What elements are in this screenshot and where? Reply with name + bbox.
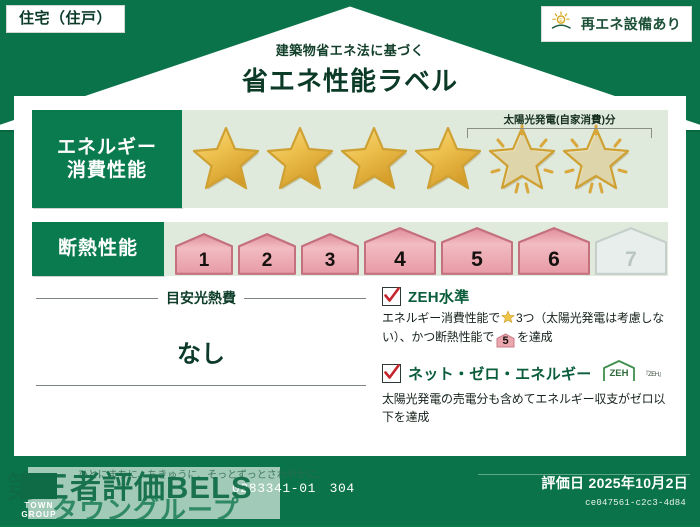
insulation-label-text: 断熱性能: [58, 237, 138, 260]
zeh-body-part3: を達成: [517, 330, 552, 344]
renewable-energy-badge: E 再エネ設備あり: [541, 6, 692, 42]
star-filled-icon: [264, 124, 336, 194]
renewable-badge-label: 再エネ設備あり: [581, 14, 681, 34]
insulation-row-value: 1234567: [164, 222, 668, 276]
utility-cost-bottom-rule: [36, 385, 366, 386]
claim-net-zero-energy: ネット・ゼロ・エネルギー ZEH 『ZEH』 太陽光発電の売電分も含めてエネルギ…: [382, 359, 674, 426]
solar-annotation-label: 太陽光発電(自家消費)分: [467, 112, 652, 127]
energy-label-line2: 消費性能: [67, 159, 147, 182]
insulation-grade-scale: 1234567: [174, 226, 668, 276]
insulation-grade-value: 6: [548, 248, 560, 272]
page-title: 省エネ性能ラベル: [0, 61, 700, 98]
energy-performance-row: エネルギー 消費性能 太陽光発電(自家消費)分: [32, 110, 668, 208]
svg-text:ZEH: ZEH: [609, 368, 628, 379]
footer-evaluation-date: 評価日 2025年10月2日: [541, 473, 688, 493]
claims-block: ZEH水準 エネルギー消費性能で3つ（太陽光発電は考慮しない）、かつ断熱性能で5…: [382, 286, 674, 437]
footer-bar: 0283341-01 304 評価日 2025年10月2日 ce047561-c…: [0, 461, 700, 525]
claim-zeh-level: ZEH水準 エネルギー消費性能で3つ（太陽光発電は考慮しない）、かつ断熱性能で5…: [382, 286, 674, 348]
insulation-grade-value: 4: [394, 248, 406, 272]
energy-row-value: 太陽光発電(自家消費)分: [182, 110, 668, 208]
rule-left: [36, 298, 158, 299]
zeh-logo-icon: ZEH: [602, 359, 636, 388]
insulation-grade-value: 7: [625, 248, 637, 272]
utility-cost-title: 目安光熱費: [166, 288, 236, 308]
footer-uuid: ce047561-c2c3-4d84: [585, 498, 686, 508]
insulation-grade-value: 2: [262, 250, 273, 272]
title-block: 建築物省エネ法に基づく 省エネ性能ラベル: [0, 40, 700, 98]
zeh-logo-trademark: 『ZEH』: [643, 369, 665, 378]
checkbox-zeh-level[interactable]: [382, 287, 401, 306]
mini-star-icon: [501, 310, 515, 329]
insulation-grade-badge: 1: [174, 232, 234, 276]
claim-net-zero-body: 太陽光発電の売電分も含めてエネルギー収支がゼロ以下を達成: [382, 391, 674, 426]
claim-zeh-level-body: エネルギー消費性能で3つ（太陽光発電は考慮しない）、かつ断熱性能で5を達成: [382, 310, 674, 348]
mini-grade-value: 5: [503, 335, 509, 347]
zeh-body-part1: エネルギー消費性能で: [382, 311, 500, 325]
star-filled-icon: [190, 124, 262, 194]
insulation-grade-value: 1: [199, 250, 210, 272]
utility-cost-value: なし: [36, 308, 366, 385]
insulation-grade-badge: 5: [440, 226, 514, 276]
mini-grade-badge: 5: [496, 333, 515, 348]
checkbox-net-zero[interactable]: [382, 364, 401, 383]
sun-icon: E: [550, 11, 574, 36]
title-subtitle: 建築物省エネ法に基づく: [0, 40, 700, 59]
solar-annotation: 太陽光発電(自家消費)分: [467, 112, 652, 138]
claim-net-zero-header: ネット・ゼロ・エネルギー ZEH 『ZEH』: [382, 359, 674, 388]
rule-right: [244, 298, 366, 299]
star-filled-icon: [338, 124, 410, 194]
insulation-grade-badge: 3: [300, 232, 360, 276]
energy-label-card: 住宅（住戸） E 再エネ設備あり 建築物省エネ法に基づく 省エネ性能ラベル: [0, 0, 700, 525]
insulation-grade-badge: 2: [237, 232, 297, 276]
solar-bracket: [467, 128, 652, 138]
utility-cost-block: 目安光熱費 なし: [36, 288, 366, 386]
insulation-grade-value: 3: [325, 250, 336, 272]
claim-zeh-level-header: ZEH水準: [382, 286, 674, 307]
claim-zeh-level-title: ZEH水準: [408, 286, 470, 307]
footer-document-id: 0283341-01 304: [232, 477, 355, 496]
category-chip: 住宅（住戸）: [6, 5, 125, 33]
zeh-body-stars: 3つ: [516, 311, 534, 325]
insulation-grade-badge: 4: [363, 226, 437, 276]
claim-net-zero-title: ネット・ゼロ・エネルギー: [408, 363, 592, 384]
insulation-grade-value: 5: [471, 248, 483, 272]
energy-row-label: エネルギー 消費性能: [32, 110, 182, 208]
insulation-performance-row: 断熱性能 1234567: [32, 222, 668, 276]
insulation-grade-badge: 6: [517, 226, 591, 276]
insulation-row-label: 断熱性能: [32, 222, 164, 276]
energy-label-line1: エネルギー: [57, 136, 157, 159]
utility-cost-header: 目安光熱費: [36, 288, 366, 308]
insulation-grade-badge: 7: [594, 226, 668, 276]
